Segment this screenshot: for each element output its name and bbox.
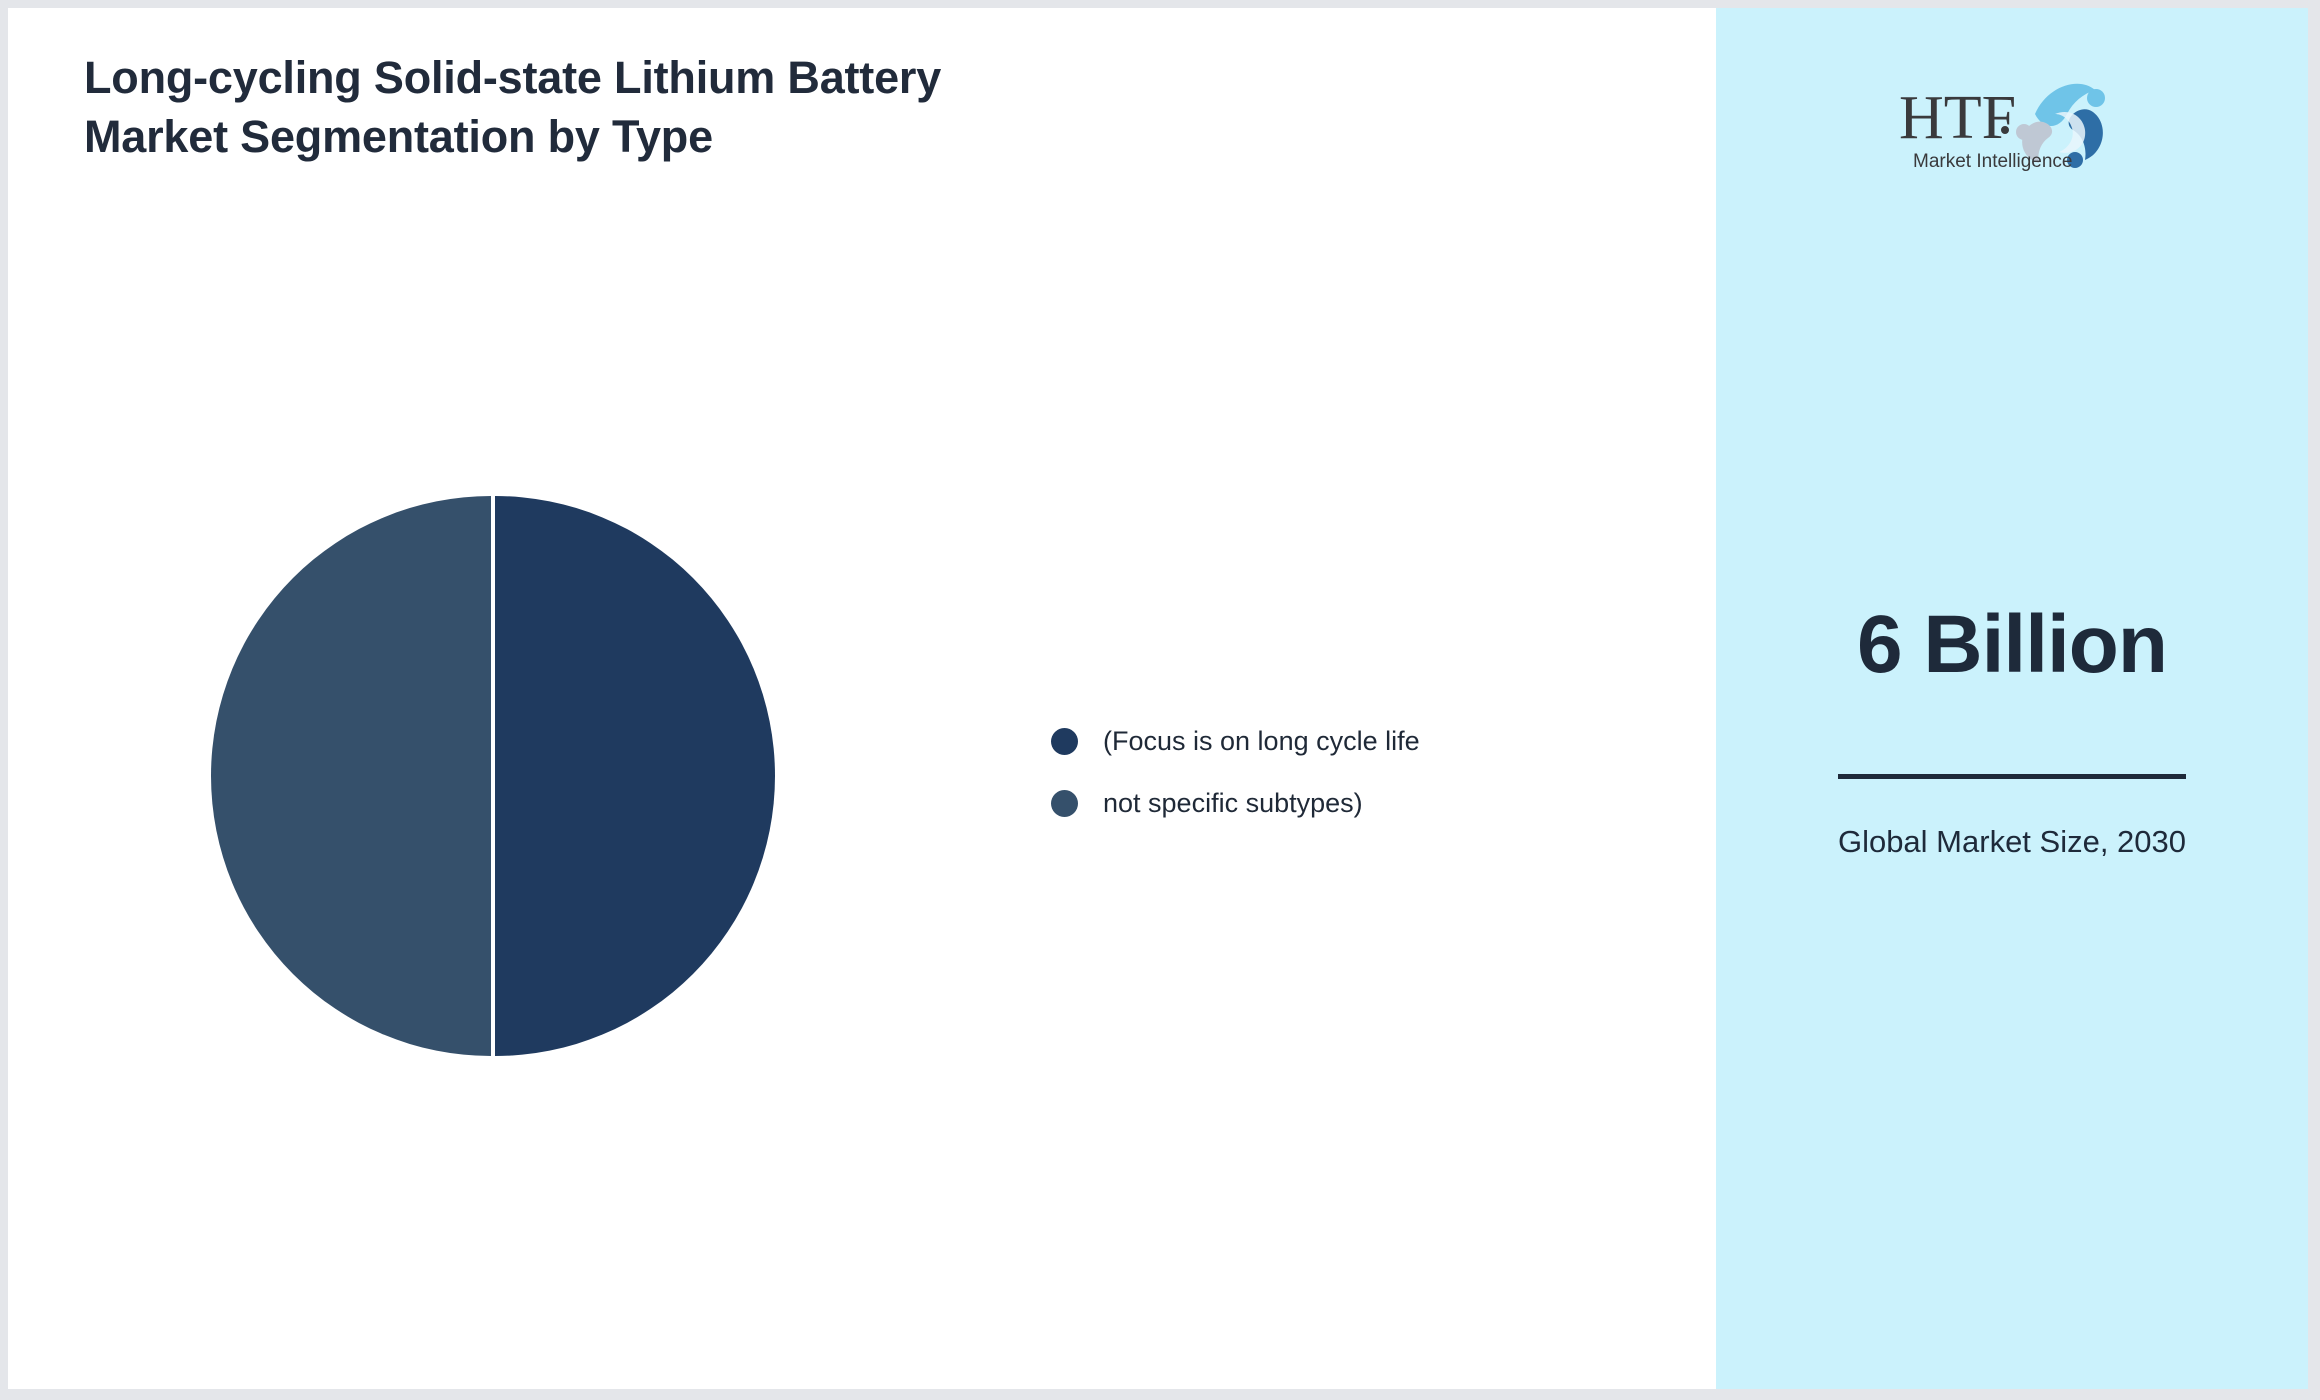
stat-divider bbox=[1838, 774, 2186, 779]
logo-wordmark-text: HTF bbox=[1899, 84, 2016, 152]
pie-chart bbox=[203, 486, 783, 1066]
stat-value: 6 Billion bbox=[1716, 598, 2308, 692]
legend-label-0: (Focus is on long cycle life bbox=[1103, 726, 1420, 757]
chart-panel: Long-cycling Solid-state Lithium Battery… bbox=[8, 8, 1716, 1389]
stat-panel: HTF Market Intelligence 6 Billion bbox=[1716, 8, 2308, 1389]
chart-legend: (Focus is on long cycle life not specifi… bbox=[1051, 710, 1671, 834]
pie-chart-svg bbox=[203, 486, 783, 1066]
infographic-card: Long-cycling Solid-state Lithium Battery… bbox=[8, 8, 2308, 1389]
legend-label-1: not specific subtypes) bbox=[1103, 788, 1363, 819]
legend-swatch-icon-1 bbox=[1051, 790, 1078, 817]
legend-item-0[interactable]: (Focus is on long cycle life bbox=[1051, 710, 1671, 772]
htf-market-intelligence-logo-icon: HTF Market Intelligence bbox=[1897, 68, 2127, 173]
pie-slice-0[interactable] bbox=[495, 496, 775, 1056]
legend-item-1[interactable]: not specific subtypes) bbox=[1051, 772, 1671, 834]
page-title: Long-cycling Solid-state Lithium Battery… bbox=[84, 48, 984, 167]
legend-swatch-icon-0 bbox=[1051, 728, 1078, 755]
logo-tagline-text: Market Intelligence bbox=[1913, 151, 2072, 172]
pie-slice-1[interactable] bbox=[211, 496, 491, 1056]
stat-caption: Global Market Size, 2030 bbox=[1716, 820, 2308, 865]
